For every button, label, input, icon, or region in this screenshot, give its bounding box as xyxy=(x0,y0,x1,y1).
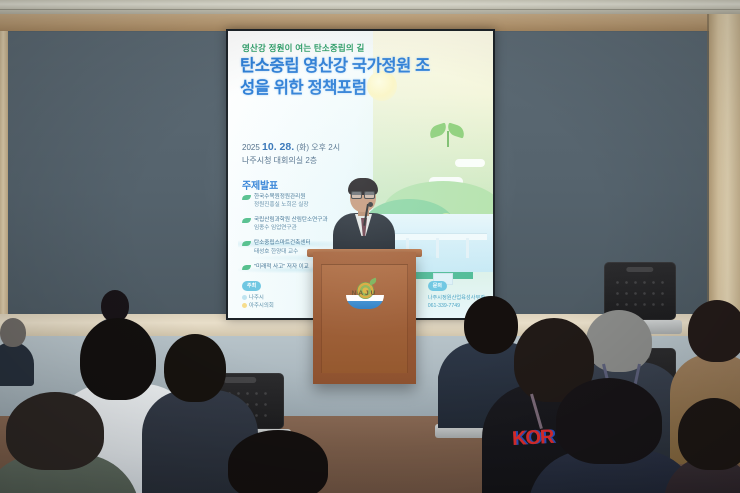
slide-title: 탄소중립 영산강 국가정원 조성을 위한 정책포럼 xyxy=(240,55,430,99)
audience-member xyxy=(152,334,238,493)
host-org: 아주시의회 xyxy=(242,302,274,310)
podium: NAJU xyxy=(313,252,416,384)
person-head xyxy=(228,430,328,493)
person-head xyxy=(556,378,662,464)
ceiling xyxy=(0,0,740,14)
acoustic-panel-left xyxy=(6,32,228,315)
naju-city-emblem: NAJU xyxy=(342,282,388,312)
person-head xyxy=(6,392,104,470)
slide-date-year: 2025 xyxy=(242,143,260,152)
chair-handle xyxy=(626,267,653,273)
person-head xyxy=(164,334,226,402)
microphone-icon xyxy=(368,202,373,207)
person-head xyxy=(678,398,740,470)
audience-member xyxy=(0,318,30,370)
slide-date-suffix: (화) 오후 2시 xyxy=(296,143,340,152)
acoustic-panel-right xyxy=(493,32,709,315)
pillar-right xyxy=(709,14,740,321)
host-org: 나주시 xyxy=(242,294,274,302)
slide-location: 나주시청 대회의실 2층 xyxy=(242,155,317,166)
leaf-bullet-icon xyxy=(242,218,251,223)
contact-chip: 문의 xyxy=(428,281,447,291)
audience-member xyxy=(0,392,120,493)
leaf-bullet-icon xyxy=(242,265,251,270)
slide-date-main: 10. 28. xyxy=(262,141,294,153)
conference-photo: 영산강 정원이 여는 탄소중립의 길 탄소중립 영산강 국가정원 조성을 위한 … xyxy=(0,0,740,493)
glasses-icon xyxy=(351,191,375,197)
chair-perforation xyxy=(613,277,668,308)
person-head xyxy=(0,318,26,347)
host-chip: 주최 xyxy=(242,281,261,291)
audience-member xyxy=(228,430,328,493)
person-head xyxy=(688,300,740,362)
emblem-text: NAJU xyxy=(342,290,388,297)
host-org-label: 아주시의회 xyxy=(249,303,274,309)
org-logo-icon xyxy=(242,295,247,300)
podium-front-panel xyxy=(321,264,408,374)
audience-member xyxy=(548,378,678,493)
slide-eyebrow: 영산강 정원이 여는 탄소중립의 길 xyxy=(242,42,365,54)
leaf-bullet-icon xyxy=(242,241,251,246)
slide-date: 2025 10. 28. (화) 오후 2시 xyxy=(242,141,340,153)
slide-section-heading: 주제발표 xyxy=(242,177,278,192)
audience-member xyxy=(678,398,740,493)
speaker xyxy=(331,176,397,258)
host-org-label: 나주시 xyxy=(249,295,264,301)
ceiling-seam xyxy=(0,9,740,10)
person-body xyxy=(0,342,34,386)
leaf-bullet-icon xyxy=(242,195,251,200)
pillar-left xyxy=(0,31,8,321)
slide-footer-host: 주최 나주시 아주시의회 xyxy=(242,274,274,310)
org-logo-icon xyxy=(242,303,247,308)
person-head xyxy=(80,318,156,400)
